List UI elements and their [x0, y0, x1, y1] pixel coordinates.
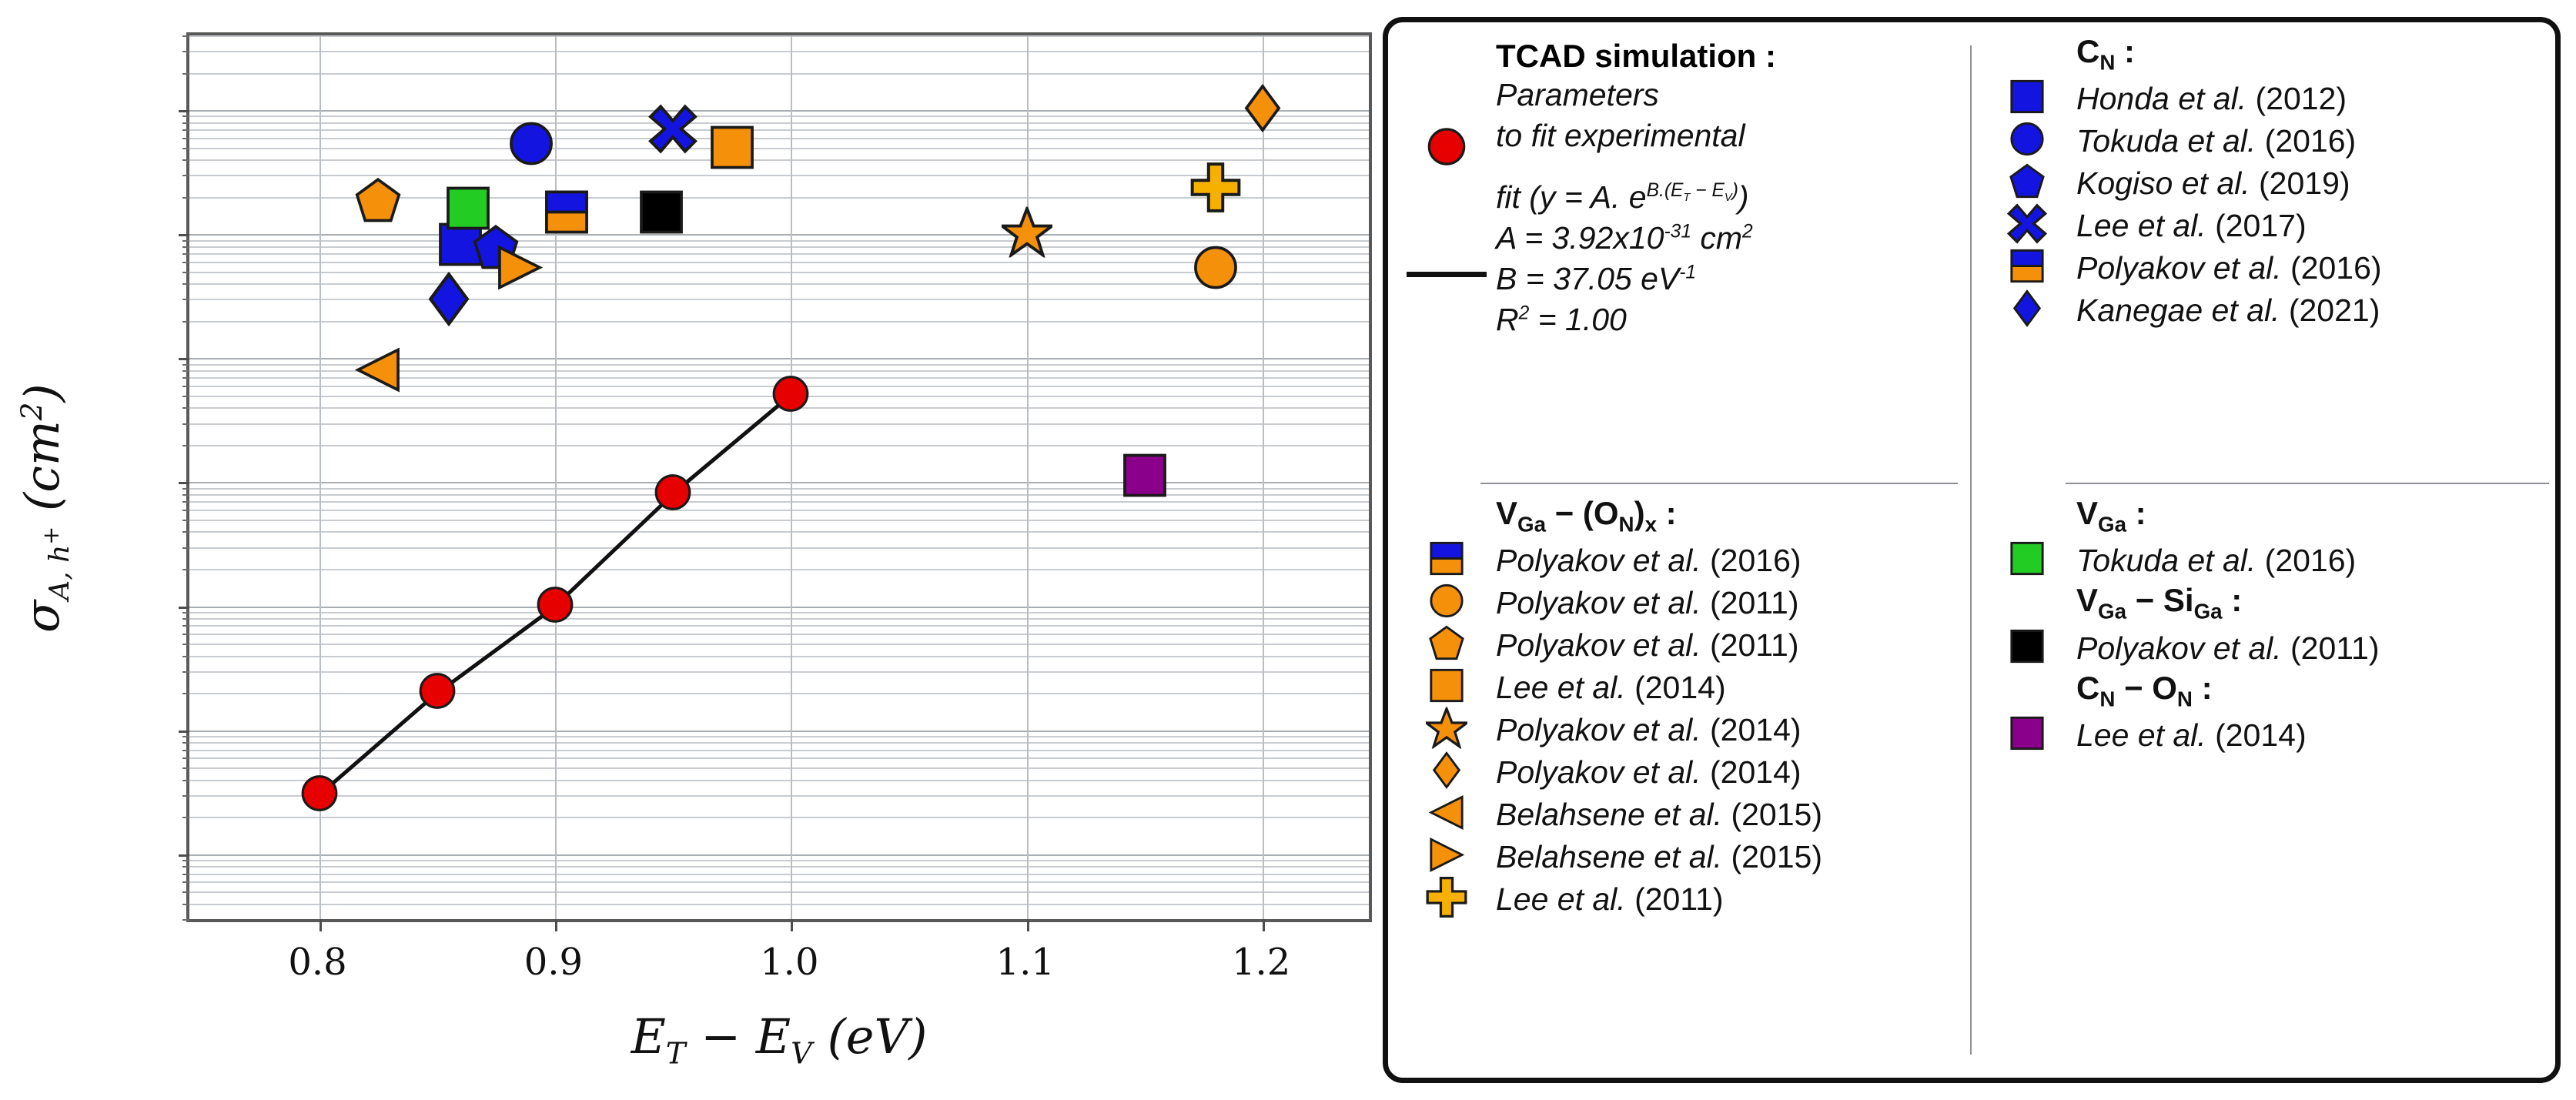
y-tick — [182, 253, 189, 255]
legend-items-vga-on: Polyakov et al. (2016)Polyakov et al. (2… — [1399, 540, 1969, 921]
gridline-vertical — [791, 35, 792, 919]
gridline-horizontal — [189, 510, 1369, 511]
circle-marker-icon — [2009, 121, 2046, 162]
gridline-horizontal — [189, 881, 1369, 883]
legend-item[interactable]: Belahsene et al. (2015) — [1399, 794, 1969, 836]
star-marker-icon — [1002, 207, 1052, 262]
legend-items-vga: Tokuda et al. (2016) — [1979, 540, 2549, 582]
square-marker-icon — [708, 124, 756, 176]
y-tick — [182, 569, 189, 570]
y-tick — [182, 262, 189, 263]
tcad-point-marker — [299, 773, 340, 817]
legend-item[interactable]: Polyakov et al. (2011) — [1979, 627, 2549, 670]
gridline-horizontal — [189, 742, 1369, 744]
y-tick — [179, 607, 189, 609]
legend-header-vga-siga: VGa − SiGa : — [2076, 582, 2549, 624]
y-tick — [182, 272, 189, 273]
gridline-horizontal — [189, 866, 1369, 868]
y-tick — [182, 634, 189, 635]
x-tick — [555, 919, 557, 931]
legend-item-label: Polyakov et al. (2016) — [1496, 543, 1802, 579]
square-marker-icon — [444, 185, 492, 236]
legend-marker — [1399, 836, 1496, 878]
plus-thick-marker-icon — [1190, 162, 1241, 216]
legend-header-cn-on: CN − ON : — [2076, 670, 2549, 711]
legend-marker — [1979, 205, 2076, 247]
legend-item[interactable]: Kanegae et al. (2021) — [1979, 289, 2549, 332]
legend-marker — [1979, 120, 2076, 162]
legend-item-label: Belahsene et al. (2015) — [1496, 839, 1822, 875]
gridline-horizontal — [189, 874, 1369, 875]
y-tick — [182, 736, 189, 737]
y-tick — [182, 671, 189, 673]
gridline-horizontal — [189, 520, 1369, 521]
diamond-marker-icon — [422, 272, 476, 329]
pentagon-marker-icon — [354, 177, 402, 229]
chart-root: σA, h+ (cm2) 10-1210-1310-1410-1510-1610… — [0, 0, 2576, 1100]
y-tick — [182, 817, 189, 818]
y-tick — [182, 881, 189, 883]
legend-marker — [1979, 714, 2076, 757]
y-tick — [182, 874, 189, 875]
y-tick — [182, 321, 189, 323]
pentagon-marker-icon — [2009, 163, 2046, 204]
square-marker-icon — [637, 189, 685, 240]
legend-group-cn: CN : Honda et al. (2012)Tokuda et al. (2… — [1979, 33, 2549, 332]
y-tick — [182, 860, 189, 861]
pentagon-marker-icon — [1428, 625, 1465, 666]
gridline-horizontal — [189, 234, 1369, 236]
y-tick — [182, 148, 189, 149]
legend-item-label: Tokuda et al. (2016) — [2076, 123, 2356, 159]
gridline-horizontal — [189, 148, 1369, 149]
legend-marker — [1399, 878, 1496, 921]
y-tick — [179, 234, 189, 236]
x-tick-label: 1.0 — [760, 941, 818, 984]
gridline-horizontal — [189, 423, 1369, 425]
y-tick — [182, 129, 189, 131]
y-tick — [182, 891, 189, 893]
legend-item-label: Lee et al. (2014) — [1496, 670, 1726, 706]
x-thick-marker-icon — [2006, 203, 2048, 249]
y-tick — [182, 494, 189, 496]
gridline-horizontal — [189, 531, 1369, 533]
line-marker-icon — [1407, 272, 1487, 277]
legend-group-bottom-right: VGa : Tokuda et al. (2016) VGa − SiGa : … — [1979, 495, 2549, 757]
gridline-horizontal — [189, 488, 1369, 490]
square-marker-icon — [2009, 715, 2046, 756]
tcad-point-marker — [771, 373, 811, 417]
gridline-horizontal — [189, 860, 1369, 861]
circle-marker-icon — [1426, 126, 1467, 172]
y-tick — [182, 35, 189, 37]
x-tick-label: 0.9 — [524, 941, 583, 984]
x-tick — [791, 919, 793, 931]
diamond-marker-icon — [1428, 752, 1465, 793]
y-tick — [182, 115, 189, 117]
gridline-horizontal — [189, 644, 1369, 645]
gridline-horizontal — [189, 73, 1369, 75]
legend-items-cn: Honda et al. (2012)Tokuda et al. (2016)K… — [1979, 78, 2549, 332]
gridline-horizontal — [189, 482, 1369, 483]
legend-marker — [1399, 794, 1496, 836]
square-marker-icon — [2009, 540, 2046, 581]
square-marker-icon — [1428, 667, 1465, 708]
y-tick — [179, 482, 189, 484]
legend-item[interactable]: Polyakov et al. (2011) — [1399, 624, 1969, 667]
circle-marker-icon — [507, 119, 555, 171]
legend-item[interactable]: Tokuda et al. (2016) — [1979, 540, 2549, 582]
y-tick — [182, 866, 189, 868]
legend-item-label: Polyakov et al. (2014) — [1496, 712, 1802, 748]
gridline-horizontal — [189, 780, 1369, 781]
y-tick — [182, 364, 189, 366]
square-marker-icon — [2009, 79, 2046, 119]
y-tick — [182, 510, 189, 511]
y-tick — [182, 656, 189, 657]
legend-tcad-markers — [1399, 75, 1496, 329]
split-square-blue-orange-marker-icon — [543, 189, 590, 240]
legend-marker — [1979, 627, 2076, 670]
y-tick — [182, 904, 189, 905]
x-tick — [1027, 919, 1029, 931]
gridline-horizontal — [189, 731, 1369, 732]
gridline-horizontal — [189, 693, 1369, 694]
y-tick — [182, 386, 189, 387]
y-tick — [182, 51, 189, 52]
y-tick — [182, 520, 189, 521]
y-tick — [182, 138, 189, 139]
plot-panel: σA, h+ (cm2) 10-1210-1310-1410-1510-1610… — [0, 0, 1378, 1100]
y-tick — [182, 122, 189, 124]
legend-items-cn-on: Lee et al. (2014) — [1979, 714, 2549, 757]
y-tick — [182, 73, 189, 75]
legend-item-label: Polyakov et al. (2011) — [1496, 585, 1799, 621]
diamond-marker-icon — [2009, 290, 2046, 331]
legend-vertical-divider — [1970, 45, 1972, 1055]
legend-marker — [1399, 709, 1496, 751]
gridline-horizontal — [189, 671, 1369, 673]
y-tick — [182, 780, 189, 781]
gridline-horizontal — [189, 321, 1369, 323]
gridline-horizontal — [189, 817, 1369, 818]
gridline-vertical — [1263, 35, 1264, 919]
y-tick — [182, 159, 189, 161]
legend-item-label: Polyakov et al. (2011) — [2076, 630, 2380, 667]
y-tick — [182, 445, 189, 446]
y-tick — [182, 693, 189, 694]
legend-item[interactable]: Lee et al. (2014) — [1979, 714, 2549, 757]
legend-item[interactable]: Lee et al. (2014) — [1399, 667, 1969, 709]
y-tick — [182, 407, 189, 409]
legend-marker — [1399, 667, 1496, 709]
tcad-point-marker — [653, 472, 693, 516]
gridline-horizontal — [189, 494, 1369, 496]
split-square-marker-icon — [2009, 248, 2046, 289]
gridline-horizontal — [189, 795, 1369, 797]
fit-param-r2: R2 = 1.00 — [1496, 299, 1753, 340]
legend-item-label: Honda et al. (2012) — [2076, 81, 2347, 117]
gridline-horizontal — [189, 240, 1369, 242]
legend-item-label: Polyakov et al. (2016) — [2076, 250, 2382, 286]
legend-item-label: Lee et al. (2014) — [2076, 717, 2307, 754]
legend-horizontal-divider-left — [1480, 483, 1958, 484]
y-tick — [179, 731, 189, 733]
gridline-horizontal — [189, 51, 1369, 52]
legend-marker — [1979, 162, 2076, 205]
triangle-right-marker-icon — [1428, 837, 1465, 878]
legend-item-label: Polyakov et al. (2011) — [1496, 627, 1799, 664]
gridline-horizontal — [189, 159, 1369, 161]
gridline-horizontal — [189, 547, 1369, 549]
legend-item-label: Tokuda et al. (2016) — [2076, 543, 2356, 579]
legend-header-vga: VGa : — [2076, 495, 2549, 537]
gridline-horizontal — [189, 138, 1369, 139]
fit-param-b: B = 37.05 eV-1 — [1496, 259, 1753, 299]
legend-item-label: Belahsene et al. (2015) — [1496, 797, 1822, 833]
gridline-horizontal — [189, 891, 1369, 893]
legend-marker — [1399, 582, 1496, 624]
y-tick — [182, 396, 189, 397]
legend-item-label: Kanegae et al. (2021) — [2076, 293, 2380, 329]
legend-marker — [1399, 540, 1496, 582]
gridline-horizontal — [189, 299, 1369, 300]
y-tick — [182, 240, 189, 242]
y-axis-title: σA, h+ (cm2) — [14, 216, 75, 801]
diamond-marker-icon — [1239, 85, 1286, 136]
gridline-horizontal — [189, 656, 1369, 657]
legend-tcad-text: Parameters to fit experimental fit (y = … — [1496, 75, 1753, 341]
gridline-horizontal — [189, 612, 1369, 614]
tcad-point-marker — [417, 671, 457, 715]
legend-header-tcad: TCAD simulation : — [1496, 38, 1969, 75]
legend-item-label: Lee et al. (2017) — [2076, 208, 2307, 244]
legend-marker — [1399, 751, 1496, 794]
square-marker-icon — [2009, 627, 2046, 668]
legend-box: TCAD simulation : Parameters to fit expe… — [1383, 17, 2561, 1083]
legend-item-label: Kogiso et al. (2019) — [2076, 166, 2350, 202]
legend-header-cn: CN : — [2076, 33, 2549, 75]
gridline-horizontal — [189, 904, 1369, 905]
gridline-horizontal — [189, 634, 1369, 635]
x-thick-marker-icon — [647, 103, 698, 158]
gridline-horizontal — [189, 757, 1369, 759]
fit-equation-line: fit (y = A. eB.(ET − EV)) — [1496, 177, 1753, 218]
legend-marker — [1979, 289, 2076, 332]
gridline-horizontal — [189, 607, 1369, 608]
y-tick — [182, 299, 189, 300]
triangle-left-marker-icon — [354, 346, 402, 397]
y-tick — [182, 246, 189, 248]
legend-item[interactable]: Polyakov et al. (2014) — [1399, 709, 1969, 751]
y-tick — [182, 197, 189, 199]
legend-marker — [1399, 624, 1496, 667]
legend-item[interactable]: Polyakov et al. (2011) — [1399, 582, 1969, 624]
legend-item[interactable]: Belahsene et al. (2015) — [1399, 836, 1969, 878]
legend-item-label: Lee et al. (2011) — [1496, 881, 1724, 918]
y-tick — [179, 358, 189, 360]
y-tick — [182, 795, 189, 797]
y-tick — [182, 767, 189, 769]
y-tick — [182, 625, 189, 627]
gridline-horizontal — [189, 767, 1369, 769]
legend-marker — [1979, 247, 2076, 289]
y-tick — [182, 757, 189, 759]
y-tick — [182, 644, 189, 645]
gridline-horizontal — [189, 115, 1369, 117]
square-marker-icon — [1121, 451, 1169, 503]
y-tick — [179, 110, 189, 112]
y-tick — [182, 283, 189, 285]
x-tick — [1263, 919, 1265, 931]
circle-marker-icon — [1192, 243, 1239, 295]
spacer — [1496, 157, 1753, 177]
y-tick — [182, 488, 189, 490]
y-tick — [182, 423, 189, 425]
gridline-horizontal — [189, 35, 1369, 37]
gridline-horizontal — [189, 110, 1369, 112]
tcad-point-marker — [535, 584, 575, 628]
x-tick-label: 1.2 — [1232, 941, 1290, 984]
y-tick — [182, 742, 189, 744]
gridline-horizontal — [189, 625, 1369, 627]
y-tick — [182, 750, 189, 751]
y-tick — [182, 175, 189, 176]
plus-thick-marker-icon — [1426, 877, 1467, 922]
legend-horizontal-divider-right — [2066, 483, 2549, 484]
legend-item[interactable]: Polyakov et al. (2016) — [1399, 540, 1969, 582]
legend-item[interactable]: Kogiso et al. (2019) — [1979, 162, 2549, 205]
x-tick-label: 0.8 — [288, 941, 346, 984]
circle-marker-icon — [1428, 583, 1465, 624]
y-tick — [179, 854, 189, 857]
legend-item[interactable]: Lee et al. (2017) — [1979, 205, 2549, 247]
x-tick — [319, 919, 322, 931]
plot-axes — [186, 32, 1372, 922]
y-tick — [182, 531, 189, 533]
legend-group-vga-on: VGa − (ON)x : Polyakov et al. (2016)Poly… — [1399, 495, 1969, 921]
tcad-label-line1: Parameters — [1496, 75, 1753, 115]
gridline-horizontal — [189, 854, 1369, 856]
y-tick — [182, 547, 189, 549]
x-tick-label: 1.1 — [996, 941, 1055, 984]
legend-item[interactable]: Lee et al. (2011) — [1399, 878, 1969, 921]
gridline-vertical — [1027, 35, 1029, 919]
gridline-horizontal — [189, 501, 1369, 503]
gridline-horizontal — [189, 569, 1369, 570]
legend-item[interactable]: Polyakov et al. (2014) — [1399, 751, 1969, 794]
gridline-horizontal — [189, 618, 1369, 620]
y-tick — [182, 501, 189, 503]
legend-items-vga-siga: Polyakov et al. (2011) — [1979, 627, 2549, 670]
fit-param-a: A = 3.92x10-31 cm2 — [1496, 218, 1753, 259]
legend-item[interactable]: Polyakov et al. (2016) — [1979, 247, 2549, 289]
x-axis-title: ET − EV (eV) — [631, 1008, 928, 1071]
legend-marker — [1979, 540, 2076, 582]
star-marker-icon — [1426, 707, 1467, 753]
y-tick — [182, 618, 189, 620]
gridline-horizontal — [189, 736, 1369, 737]
y-tick — [182, 377, 189, 379]
split-square-marker-icon — [1428, 540, 1465, 581]
legend-marker — [1979, 78, 2076, 120]
y-tick — [182, 919, 189, 921]
gridline-horizontal — [189, 445, 1369, 446]
legend-item[interactable]: Honda et al. (2012) — [1979, 78, 2549, 120]
triangle-left-marker-icon — [1428, 794, 1465, 835]
gridline-horizontal — [189, 122, 1369, 124]
gridline-horizontal — [189, 129, 1369, 131]
y-tick — [182, 370, 189, 372]
y-tick — [182, 612, 189, 614]
legend-item-label: Polyakov et al. (2014) — [1496, 754, 1802, 791]
legend-group-tcad: TCAD simulation : Parameters to fit expe… — [1399, 33, 1969, 341]
legend-item[interactable]: Tokuda et al. (2016) — [1979, 120, 2549, 162]
legend-header-vga-on: VGa − (ON)x : — [1496, 495, 1969, 537]
tcad-label-line2: to fit experimental — [1496, 115, 1753, 156]
triangle-right-marker-icon — [496, 243, 544, 295]
